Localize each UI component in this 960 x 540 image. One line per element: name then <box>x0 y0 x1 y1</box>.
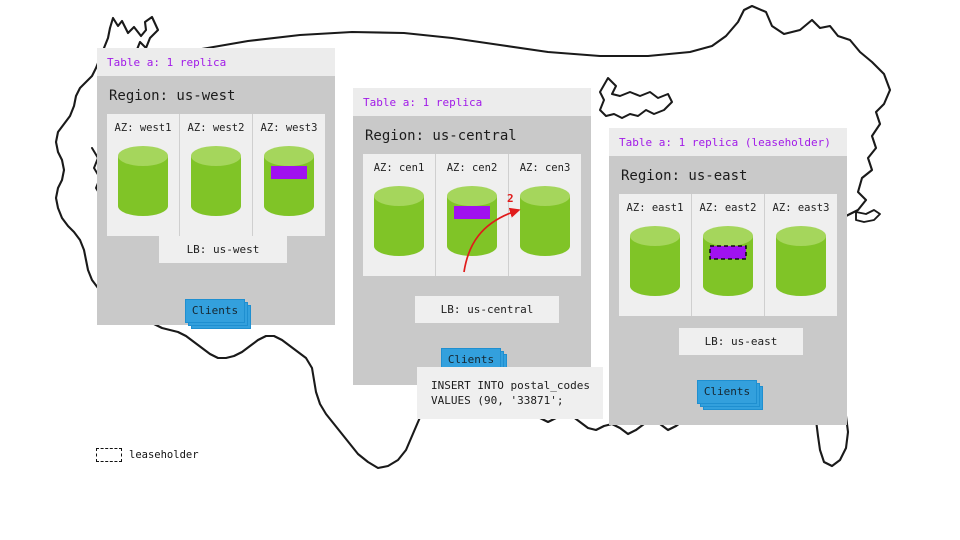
diagram-canvas: leaseholder Table a: 1 replica Region: u… <box>0 0 960 540</box>
replication-arrow <box>0 0 960 540</box>
arrow-label-2: 2 <box>507 193 514 205</box>
